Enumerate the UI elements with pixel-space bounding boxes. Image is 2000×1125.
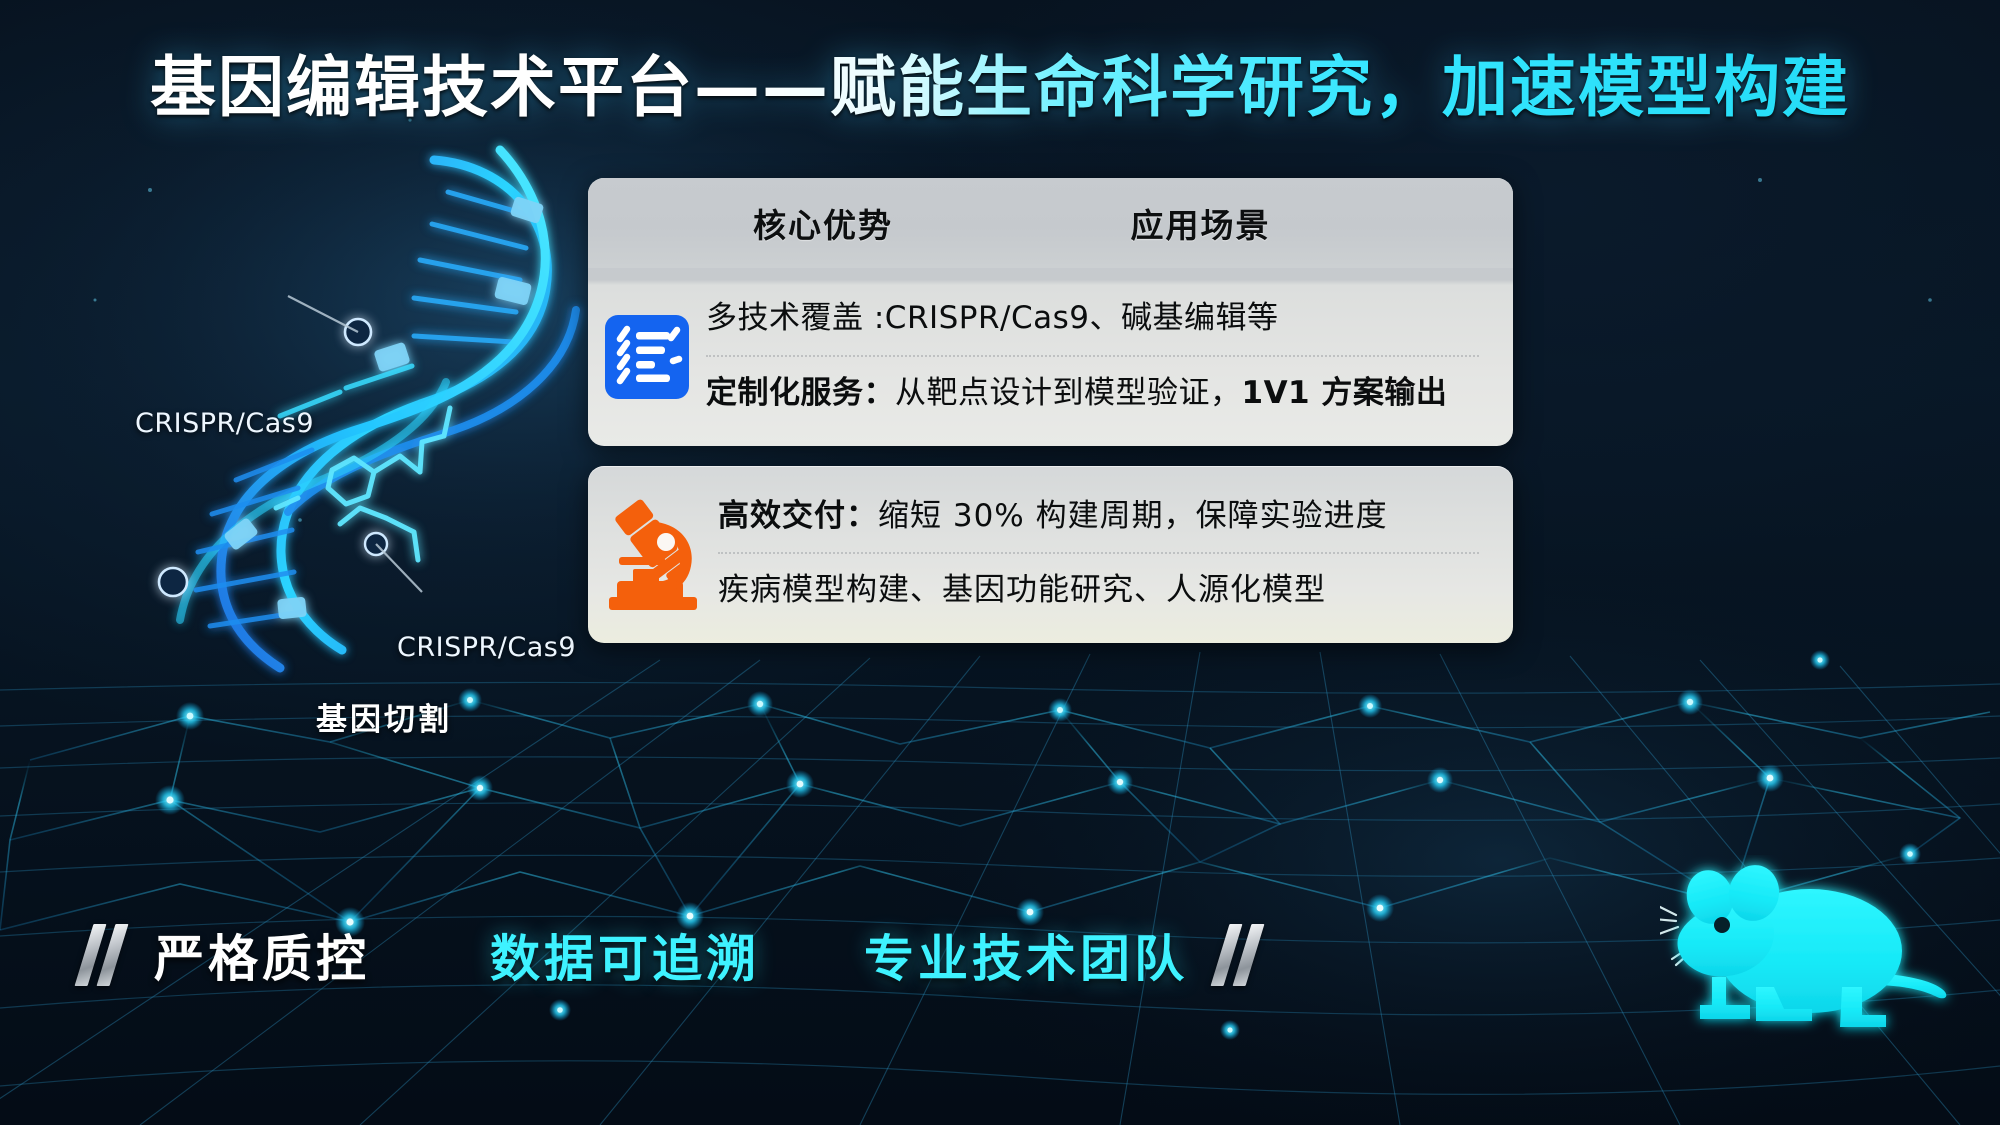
card-body: 多技术覆盖 :CRISPR/Cas9、碱基编辑等 定制化服务：从靶点设计到模型验… bbox=[588, 268, 1513, 446]
checklist-icon bbox=[603, 313, 691, 401]
dna-label-crispr-bottom: CRISPR/Cas9 bbox=[397, 632, 576, 663]
dna-label-gene-cut: 基因切割 bbox=[316, 694, 452, 739]
checklist-icon-wrap bbox=[588, 268, 706, 446]
card-rows: 多技术覆盖 :CRISPR/Cas9、碱基编辑等 定制化服务：从靶点设计到模型验… bbox=[706, 268, 1513, 446]
card-header-row: 核心优势 应用场景 bbox=[588, 178, 1513, 268]
card-rows: 高效交付：缩短 30% 构建周期，保障实验进度 疾病模型构建、基因功能研究、人源… bbox=[718, 466, 1513, 644]
header-application-scenario: 应用场景 bbox=[1018, 199, 1513, 247]
header-core-advantage: 核心优势 bbox=[588, 199, 1018, 247]
slash-mark-right bbox=[1216, 924, 1262, 986]
row-model-applications: 疾病模型构建、基因功能研究、人源化模型 bbox=[718, 554, 1479, 627]
dna-illustration: CRISPR/Cas9 CRISPR/Cas9 基因切割 bbox=[40, 120, 660, 700]
tagline-professional-team: 专业技术团队 bbox=[864, 919, 1188, 991]
tagline-row: 严格质控 数据可追溯 专业技术团队 bbox=[0, 900, 1560, 1010]
advantage-card[interactable]: 核心优势 应用场景 bbox=[588, 178, 1513, 446]
row-multi-tech: 多技术覆盖 :CRISPR/Cas9、碱基编辑等 bbox=[706, 282, 1479, 355]
microscope-icon-wrap bbox=[588, 466, 718, 644]
dna-label-crispr-top: CRISPR/Cas9 bbox=[135, 408, 314, 439]
row-efficient-delivery: 高效交付：缩短 30% 构建周期，保障实验进度 bbox=[718, 480, 1479, 553]
slide-stage: 基因编辑技术平台——赋能生命科学研究，加速模型构建 bbox=[0, 0, 2000, 1125]
tagline-data-traceable: 数据可追溯 bbox=[490, 919, 760, 991]
page-title: 基因编辑技术平台——赋能生命科学研究，加速模型构建 bbox=[150, 34, 1850, 130]
row-divider bbox=[706, 355, 1479, 357]
page-title-container: 基因编辑技术平台——赋能生命科学研究，加速模型构建 bbox=[0, 34, 2000, 130]
tagline-strict-qc: 严格质控 bbox=[154, 919, 370, 991]
row-efficient-delivery-text: 缩短 30% 构建周期，保障实验进度 bbox=[878, 498, 1388, 534]
mouse-icon bbox=[1660, 855, 1990, 1085]
microscope-icon bbox=[605, 496, 701, 612]
row-divider bbox=[718, 552, 1479, 554]
row-custom-service-text: 从靶点设计到模型验证， bbox=[895, 375, 1242, 411]
row-efficient-delivery-lead: 高效交付： bbox=[718, 498, 878, 534]
info-panel: 核心优势 应用场景 bbox=[588, 178, 1513, 643]
dna-helix-icon bbox=[40, 120, 660, 700]
row-custom-service: 定制化服务：从靶点设计到模型验证，1V1 方案输出 bbox=[706, 357, 1479, 430]
row-custom-service-lead: 定制化服务： bbox=[706, 375, 895, 411]
row-custom-service-tail: 1V1 方案输出 bbox=[1242, 375, 1448, 411]
slash-mark-left bbox=[80, 924, 126, 986]
application-card[interactable]: 高效交付：缩短 30% 构建周期，保障实验进度 疾病模型构建、基因功能研究、人源… bbox=[588, 466, 1513, 644]
card-body: 高效交付：缩短 30% 构建周期，保障实验进度 疾病模型构建、基因功能研究、人源… bbox=[588, 466, 1513, 644]
mouse-illustration bbox=[1660, 855, 1990, 1085]
